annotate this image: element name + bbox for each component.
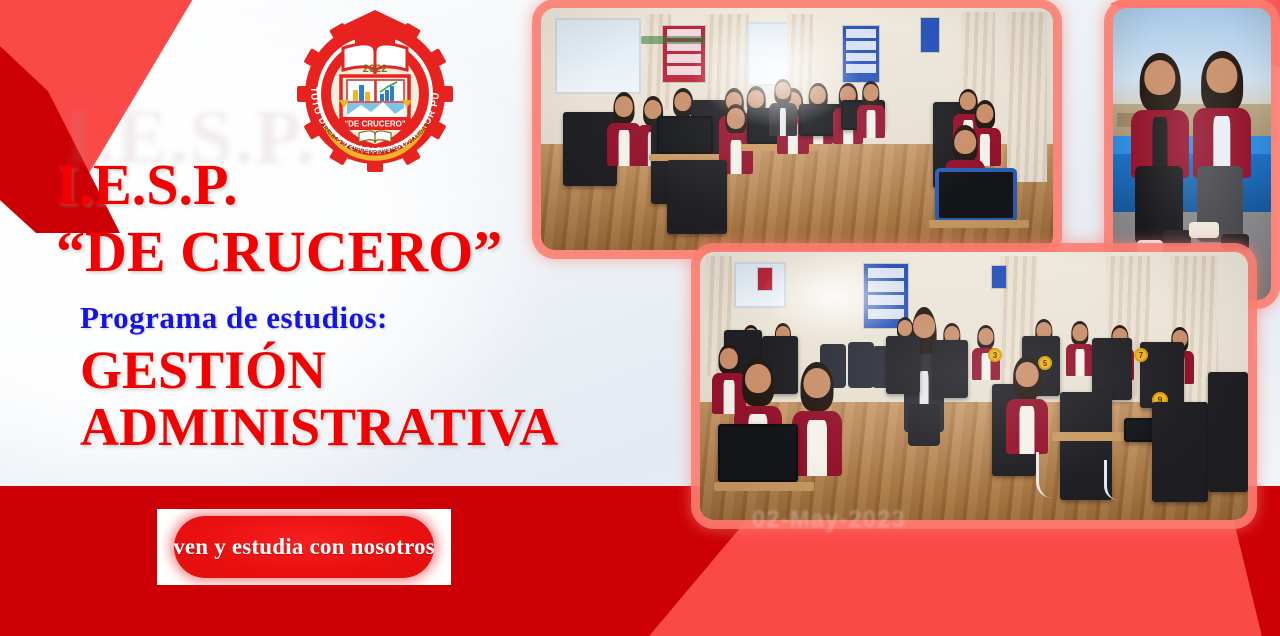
logo-year: 2022 [363, 63, 387, 75]
program-name: GESTIÓN ADMINISTRATIVA [80, 342, 660, 456]
cta-pill[interactable]: ven y estudia con nosotros [174, 516, 434, 578]
institution-logo: INSTITUTO DE EDUCACIÓN SUPERIOR PÚBLICO … [291, 2, 459, 172]
cta-label: ven y estudia con nosotros [173, 534, 435, 560]
program-name-line2: ADMINISTRATIVA [80, 399, 660, 456]
headline-block: I.E.S.P. “DE CRUCERO” [56, 155, 576, 281]
program-block: Programa de estudios: GESTIÓN ADMINISTRA… [80, 300, 660, 456]
computer-lab-class-photo: 3 5 7 1 9 [700, 252, 1248, 520]
promotional-banner: I.E.S.P. [0, 0, 1280, 636]
cta-button[interactable]: ven y estudia con nosotros [151, 503, 457, 591]
photo-timestamp: 02-May-2023 [752, 506, 906, 534]
institution-name: “DE CRUCERO” [56, 222, 576, 281]
logo-shield-banner: "DE CRUCERO" [344, 120, 406, 129]
computer-lab-wide-photo [541, 8, 1053, 250]
institution-acronym: I.E.S.P. [56, 155, 576, 214]
program-name-line1: GESTIÓN [80, 340, 326, 400]
program-label: Programa de estudios: [80, 300, 660, 336]
